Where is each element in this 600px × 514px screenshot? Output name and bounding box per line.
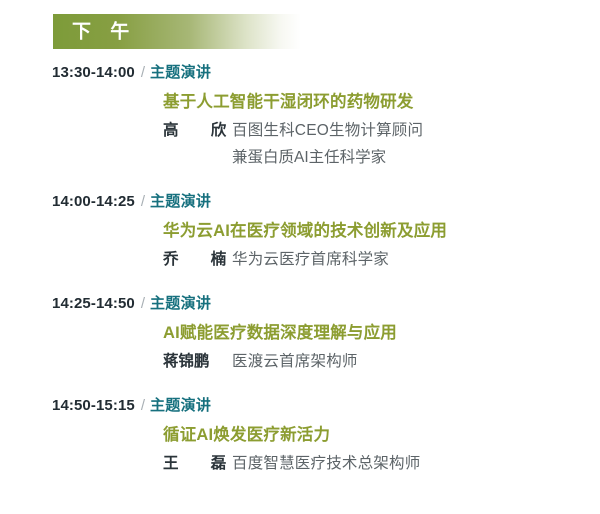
speaker-row: 蒋锦鹏 医渡云首席架构师 (52, 351, 600, 373)
session-time: 14:00-14:25 (52, 191, 135, 213)
section-banner: 下 午 (53, 14, 301, 49)
speaker-affiliation-extra: 兼蛋白质AI主任科学家 (52, 147, 600, 169)
speaker-name: 王 磊 (163, 453, 232, 475)
agenda-session-2: 14:00-14:25 / 主题演讲 华为云AI在医疗领域的技术创新及应用 乔 … (0, 191, 600, 271)
session-separator: / (141, 395, 145, 417)
speaker-affiliation: 华为云医疗首席科学家 (232, 249, 389, 271)
agenda-session-4: 14:50-15:15 / 主题演讲 循证AI焕发医疗新活力 王 磊 百度智慧医… (0, 395, 600, 475)
session-kind: 主题演讲 (150, 62, 211, 84)
speaker-row: 乔 楠 华为云医疗首席科学家 (52, 249, 600, 271)
session-separator: / (141, 62, 145, 84)
session-title: 华为云AI在医疗领域的技术创新及应用 (52, 220, 600, 242)
session-separator: / (141, 191, 145, 213)
speaker-affiliation: 医渡云首席架构师 (232, 351, 358, 373)
session-time: 13:30-14:00 (52, 62, 135, 84)
session-kind: 主题演讲 (150, 293, 211, 315)
session-title: AI赋能医疗数据深度理解与应用 (52, 322, 600, 344)
agenda-session-1: 13:30-14:00 / 主题演讲 基于人工智能干湿闭环的药物研发 高 欣 百… (0, 62, 600, 169)
agenda-session-3: 14:25-14:50 / 主题演讲 AI赋能医疗数据深度理解与应用 蒋锦鹏 医… (0, 293, 600, 373)
session-kind: 主题演讲 (150, 395, 211, 417)
session-title: 循证AI焕发医疗新活力 (52, 424, 600, 446)
session-header: 14:00-14:25 / 主题演讲 (52, 191, 600, 213)
session-header: 14:25-14:50 / 主题演讲 (52, 293, 600, 315)
speaker-affiliation: 百度智慧医疗技术总架构师 (232, 453, 420, 475)
session-time: 14:25-14:50 (52, 293, 135, 315)
section-banner-label: 下 午 (72, 22, 136, 41)
speaker-affiliation: 百图生科CEO生物计算顾问 (232, 120, 423, 142)
session-title: 基于人工智能干湿闭环的药物研发 (52, 91, 600, 113)
speaker-name: 蒋锦鹏 (163, 351, 232, 373)
session-kind: 主题演讲 (150, 191, 211, 213)
speaker-row: 高 欣 百图生科CEO生物计算顾问 (52, 120, 600, 142)
session-time: 14:50-15:15 (52, 395, 135, 417)
session-separator: / (141, 293, 145, 315)
agenda-list: 13:30-14:00 / 主题演讲 基于人工智能干湿闭环的药物研发 高 欣 百… (0, 62, 600, 475)
speaker-name: 乔 楠 (163, 249, 232, 271)
speaker-row: 王 磊 百度智慧医疗技术总架构师 (52, 453, 600, 475)
speaker-name: 高 欣 (163, 120, 232, 142)
session-header: 13:30-14:00 / 主题演讲 (52, 62, 600, 84)
session-header: 14:50-15:15 / 主题演讲 (52, 395, 600, 417)
